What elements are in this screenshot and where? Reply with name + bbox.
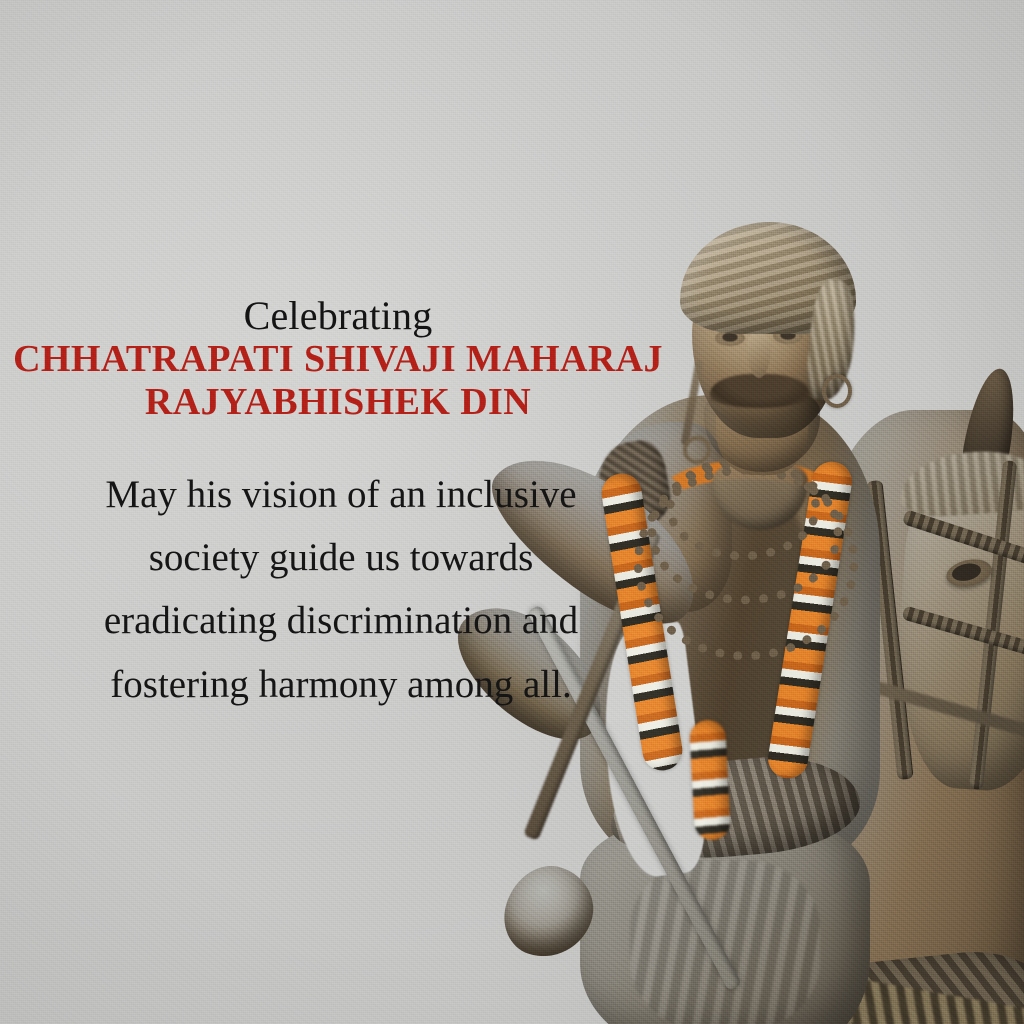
rider-moustache [710, 374, 810, 408]
dhoti-folds [630, 860, 820, 1024]
message-line: eradicating discrimination and [40, 589, 642, 652]
rider-earring [822, 374, 852, 408]
page-title: CHHATRAPATI SHIVAJI MAHARAJ RAJYABHISHEK… [0, 339, 676, 423]
message-line: fostering harmony among all. [40, 653, 642, 716]
title-line-2: RAJYABHISHEK DIN [0, 382, 676, 423]
message-text: May his vision of an inclusive society g… [0, 463, 676, 716]
message-line: May his vision of an inclusive [40, 463, 642, 526]
eyebrow-text: Celebrating [0, 296, 676, 336]
poster-canvas: Celebrating CHHATRAPATI SHIVAJI MAHARAJ … [0, 0, 1024, 1024]
greeting-text-block: Celebrating CHHATRAPATI SHIVAJI MAHARAJ … [0, 296, 676, 716]
chinstrap-ring [683, 436, 711, 464]
title-line-1: CHHATRAPATI SHIVAJI MAHARAJ [0, 339, 676, 380]
message-line: society guide us towards [40, 526, 642, 589]
marigold-garland [689, 719, 731, 841]
